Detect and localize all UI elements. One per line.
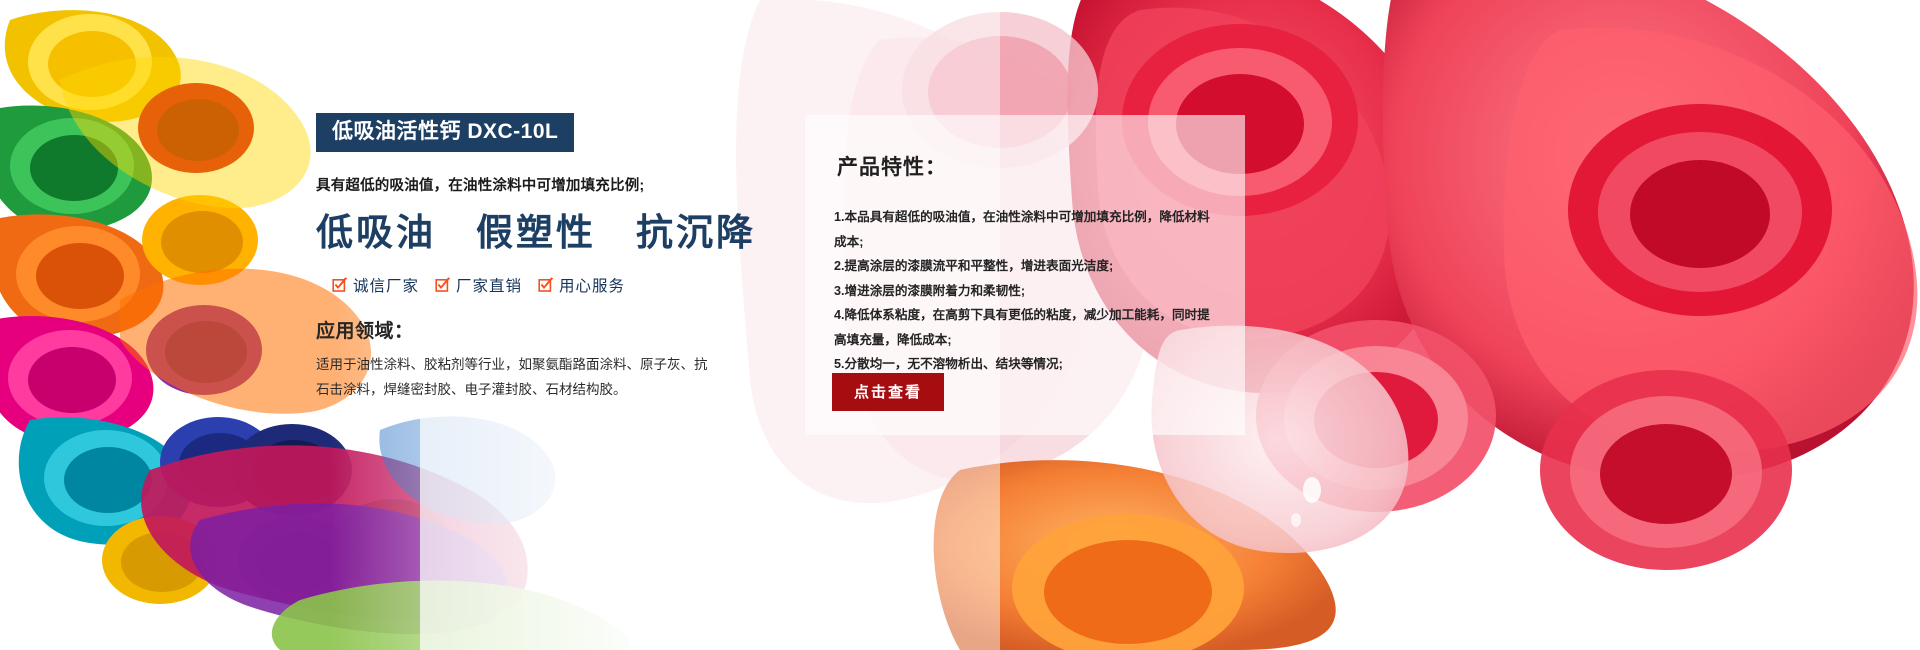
keyword-1: 低吸油 <box>316 213 436 254</box>
features-list: 1.本品具有超低的吸油值，在油性涂料中可增加填充比例，降低材料成本; 2.提高涂… <box>834 205 1219 377</box>
feature-item: 3.增进涂层的漆膜附着力和柔韧性; <box>834 279 1219 304</box>
product-title-badge: 低吸油活性钙 DXC-10L <box>316 113 574 152</box>
left-content-column: 低吸油活性钙 DXC-10L 具有超低的吸油值，在油性涂料中可增加填充比例; 低… <box>316 113 736 403</box>
view-details-button[interactable]: 点击查看 <box>832 373 944 411</box>
trust-badge-3: 用心服务 <box>538 274 625 296</box>
product-features-panel: 产品特性： 1.本品具有超低的吸油值，在油性涂料中可增加填充比例，降低材料成本;… <box>805 115 1245 435</box>
banner-stage: 低吸油活性钙 DXC-10L 具有超低的吸油值，在油性涂料中可增加填充比例; 低… <box>0 0 1920 650</box>
feature-item: 1.本品具有超低的吸油值，在油性涂料中可增加填充比例，降低材料成本; <box>834 205 1219 254</box>
trust-badge-1-label: 诚信厂家 <box>353 274 419 296</box>
trust-badges-row: 诚信厂家 厂家直销 用心服务 <box>332 274 736 296</box>
trust-badge-3-label: 用心服务 <box>559 274 625 296</box>
trust-badge-1: 诚信厂家 <box>332 274 419 296</box>
application-section-body: 适用于油性涂料、胶粘剂等行业，如聚氨酯路面涂料、原子灰、抗石击涂料，焊缝密封胶、… <box>316 353 716 403</box>
keyword-3: 抗沉降 <box>636 213 756 254</box>
trust-badge-2: 厂家直销 <box>435 274 522 296</box>
checkbox-checked-icon <box>332 277 348 293</box>
trust-badge-2-label: 厂家直销 <box>456 274 522 296</box>
checkbox-checked-icon <box>538 277 554 293</box>
checkbox-checked-icon <box>435 277 451 293</box>
keyword-2: 假塑性 <box>476 213 596 254</box>
features-panel-title: 产品特性： <box>837 151 947 181</box>
product-subheadline: 具有超低的吸油值，在油性涂料中可增加填充比例; <box>316 174 736 195</box>
application-section-title: 应用领域： <box>316 316 736 343</box>
feature-item: 4.降低体系粘度，在高剪下具有更低的粘度，减少加工能耗，同时提高填充量，降低成本… <box>834 303 1219 352</box>
keyword-row: 低吸油 假塑性 抗沉降 <box>316 213 736 254</box>
feature-item: 2.提高涂层的漆膜流平和平整性，增进表面光洁度; <box>834 254 1219 279</box>
